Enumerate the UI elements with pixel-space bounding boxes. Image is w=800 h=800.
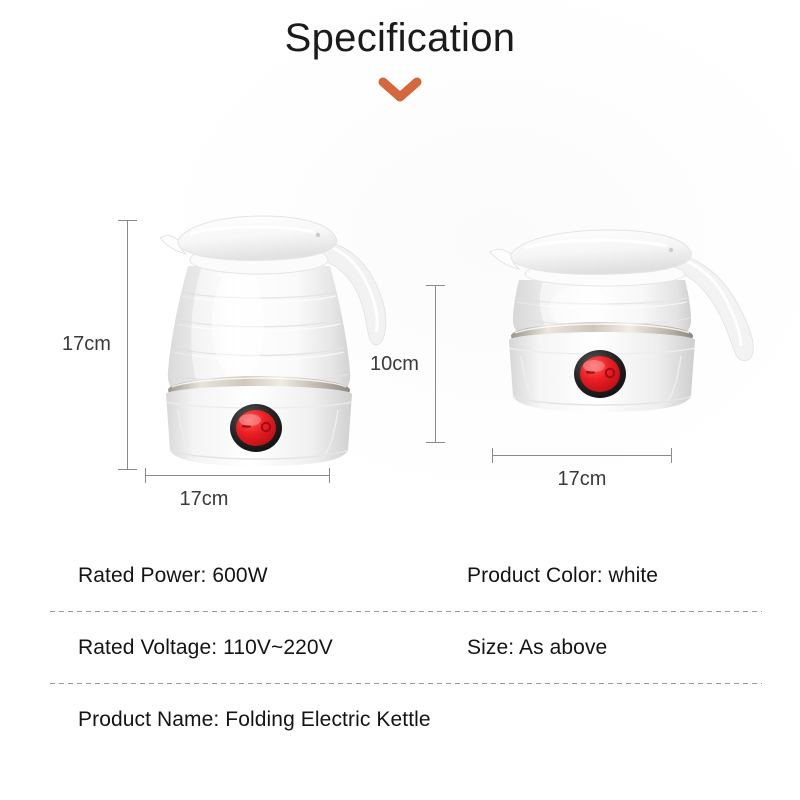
specification-table: Rated Power: 600W Product Color: white R…: [50, 540, 762, 756]
spec-size: Size: As above: [465, 636, 607, 660]
spec-rated-power: Rated Power: 600W: [50, 564, 465, 588]
kettle-expanded-illustration: [138, 204, 398, 484]
chevron-wrap: [0, 76, 800, 104]
dimension-line-horizontal-right: [492, 455, 672, 456]
dimension-label-width-right: 17cm: [558, 468, 607, 491]
kettle-collapsed-illustration: [467, 224, 767, 444]
spec-row: Rated Voltage: 110V~220V Size: As above: [50, 612, 762, 684]
dimension-label-width-left: 17cm: [180, 488, 229, 511]
spec-row: Rated Power: 600W Product Color: white: [50, 540, 762, 612]
page-title: Specification: [0, 10, 800, 66]
chevron-down-icon: [378, 76, 422, 104]
dimension-line-vertical-right: [435, 285, 436, 443]
spec-product-color: Product Color: white: [465, 564, 658, 588]
dimension-label-height-right: 10cm: [370, 353, 419, 376]
power-switch-right: [574, 350, 626, 398]
page-header: Specification: [0, 0, 800, 104]
spec-rated-voltage: Rated Voltage: 110V~220V: [50, 636, 465, 660]
spec-product-name: Product Name: Folding Electric Kettle: [50, 708, 465, 732]
dimension-line-vertical-left: [127, 220, 128, 470]
specification-page: Specification 17cm 17cm: [0, 0, 800, 800]
power-switch-left: [230, 404, 282, 452]
product-collapsed-kettle: 10cm 17cm: [405, 210, 755, 510]
product-expanded-kettle: 17cm 17cm: [60, 170, 390, 510]
spec-row: Product Name: Folding Electric Kettle: [50, 684, 762, 756]
dimension-label-height-left: 17cm: [62, 333, 111, 356]
product-diagram-area: 17cm 17cm: [0, 150, 800, 510]
